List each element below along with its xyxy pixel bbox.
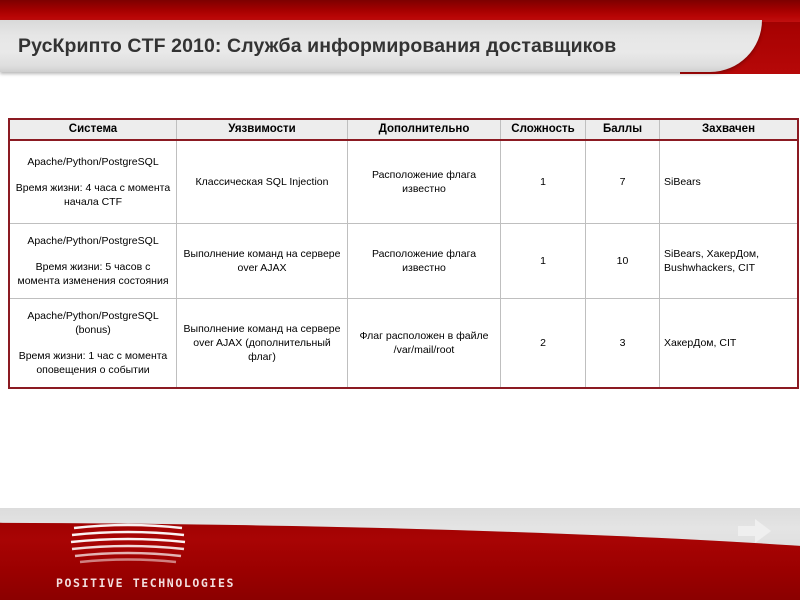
cell-points: 10 — [586, 224, 660, 299]
cell-points: 7 — [586, 140, 660, 224]
cell-additional: Расположение флага известно — [348, 140, 501, 224]
cell-captured-by: SiBears, ХакерДом, Bushwhackers, CIT — [660, 224, 799, 299]
table-body: Apache/Python/PostgreSQL Время жизни: 4 … — [9, 140, 798, 388]
cell-vulnerability: Классическая SQL Injection — [177, 140, 348, 224]
slide-header: РусКрипто CTF 2010: Служба информировани… — [0, 0, 800, 86]
scoreboard-table: Система Уязвимости Дополнительно Сложнос… — [8, 118, 799, 389]
table-header-row: Система Уязвимости Дополнительно Сложнос… — [9, 119, 798, 140]
table-row: Apache/Python/PostgreSQL Время жизни: 5 … — [9, 224, 798, 299]
cell-vulnerability: Выполнение команд на сервере over AJAX — [177, 224, 348, 299]
page-title: РусКрипто CTF 2010: Служба информировани… — [18, 20, 616, 72]
system-lifetime: Время жизни: 5 часов с момента изменения… — [14, 260, 172, 288]
column-header-points: Баллы — [586, 119, 660, 140]
cell-additional: Расположение флага известно — [348, 224, 501, 299]
cell-points: 3 — [586, 299, 660, 389]
cell-system: Apache/Python/PostgreSQL Время жизни: 4 … — [9, 140, 177, 224]
system-lifetime: Время жизни: 1 час с момента оповещения … — [14, 349, 172, 377]
company-logo: POSITIVE TECHNOLOGIES — [56, 520, 266, 590]
column-header-difficulty: Сложность — [501, 119, 586, 140]
cell-captured-by: SiBears — [660, 140, 799, 224]
cell-difficulty: 2 — [501, 299, 586, 389]
column-header-vulnerabilities: Уязвимости — [177, 119, 348, 140]
cell-system: Apache/Python/PostgreSQL (bonus) Время ж… — [9, 299, 177, 389]
cell-difficulty: 1 — [501, 224, 586, 299]
company-logo-text: POSITIVE TECHNOLOGIES — [56, 576, 266, 590]
scoreboard-table-container: Система Уязвимости Дополнительно Сложнос… — [8, 118, 790, 389]
system-name: Apache/Python/PostgreSQL — [14, 234, 172, 248]
slide-footer: POSITIVE TECHNOLOGIES — [0, 500, 800, 600]
cell-difficulty: 1 — [501, 140, 586, 224]
positive-technologies-mark-icon — [68, 522, 188, 564]
cell-additional: Флаг расположен в файле /var/mail/root — [348, 299, 501, 389]
header-red-bar — [0, 0, 800, 22]
table-row: Apache/Python/PostgreSQL (bonus) Время ж… — [9, 299, 798, 389]
column-header-additional: Дополнительно — [348, 119, 501, 140]
cell-system: Apache/Python/PostgreSQL Время жизни: 5 … — [9, 224, 177, 299]
system-name: Apache/Python/PostgreSQL — [14, 155, 172, 169]
table-row: Apache/Python/PostgreSQL Время жизни: 4 … — [9, 140, 798, 224]
column-header-captured: Захвачен — [660, 119, 799, 140]
system-lifetime: Время жизни: 4 часа с момента начала CTF — [14, 181, 172, 209]
cell-vulnerability: Выполнение команд на сервере over AJAX (… — [177, 299, 348, 389]
system-name: Apache/Python/PostgreSQL (bonus) — [14, 309, 172, 337]
next-slide-arrow-icon[interactable] — [738, 518, 772, 544]
cell-captured-by: ХакерДом, CIT — [660, 299, 799, 389]
table-head: Система Уязвимости Дополнительно Сложнос… — [9, 119, 798, 140]
column-header-system: Система — [9, 119, 177, 140]
